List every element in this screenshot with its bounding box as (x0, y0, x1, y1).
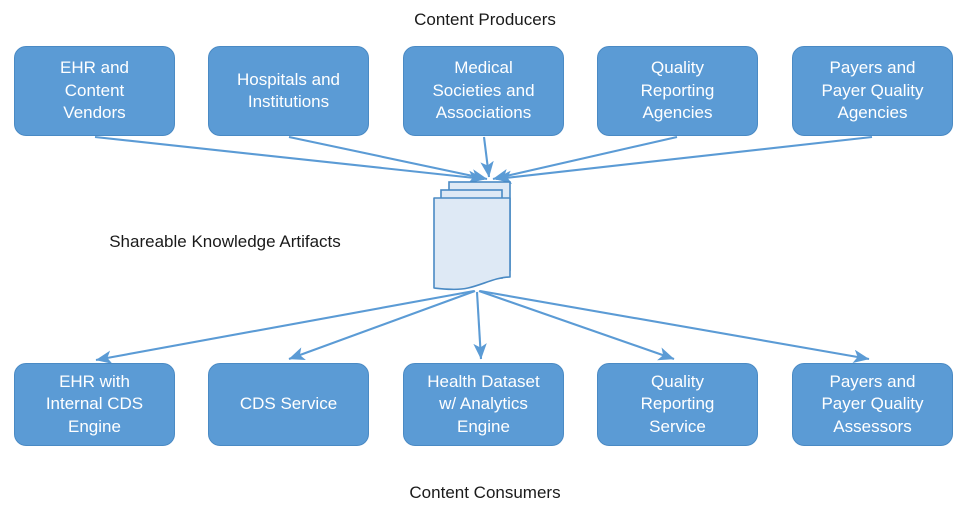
node-ehr-with-internal-cds-engine[interactable]: EHR with Internal CDS Engine (14, 363, 175, 446)
edge-hub-to-cds-service (289, 291, 475, 359)
node-payers-and-payer-quality-agencies[interactable]: Payers and Payer Quality Agencies (792, 46, 953, 136)
node-cds-service[interactable]: CDS Service (208, 363, 369, 446)
node-health-dataset-w-analytics-engine[interactable]: Health Dataset w/ Analytics Engine (403, 363, 564, 446)
diagram-canvas: Content Producers EHR and Content Vendor… (0, 0, 970, 520)
edge-hub-to-health-dataset-w-analytics-engine (477, 292, 481, 359)
content-consumers-title: Content Consumers (0, 483, 970, 503)
document-stack-icon (424, 175, 534, 295)
edge-quality-reporting-agencies-to-hub (493, 137, 677, 179)
edge-hub-to-ehr-with-internal-cds-engine (96, 291, 474, 360)
node-medical-societies-and-associations[interactable]: Medical Societies and Associations (403, 46, 564, 136)
node-quality-reporting-agencies[interactable]: Quality Reporting Agencies (597, 46, 758, 136)
edge-ehr-and-content-vendors-to-hub (95, 137, 484, 179)
node-hospitals-and-institutions[interactable]: Hospitals and Institutions (208, 46, 369, 136)
edge-hospitals-and-institutions-to-hub (289, 137, 487, 179)
edge-medical-societies-and-associations-to-hub (484, 137, 489, 177)
edge-payers-and-payer-quality-agencies-to-hub (496, 137, 872, 179)
shareable-knowledge-artifacts-label: Shareable Knowledge Artifacts (60, 232, 390, 252)
edge-hub-to-quality-reporting-service (479, 291, 674, 359)
content-producers-title: Content Producers (0, 10, 970, 30)
node-payers-and-payer-quality-assessors[interactable]: Payers and Payer Quality Assessors (792, 363, 953, 446)
edge-hub-to-payers-and-payer-quality-assessors (480, 291, 869, 359)
node-ehr-and-content-vendors[interactable]: EHR and Content Vendors (14, 46, 175, 136)
node-quality-reporting-service[interactable]: Quality Reporting Service (597, 363, 758, 446)
